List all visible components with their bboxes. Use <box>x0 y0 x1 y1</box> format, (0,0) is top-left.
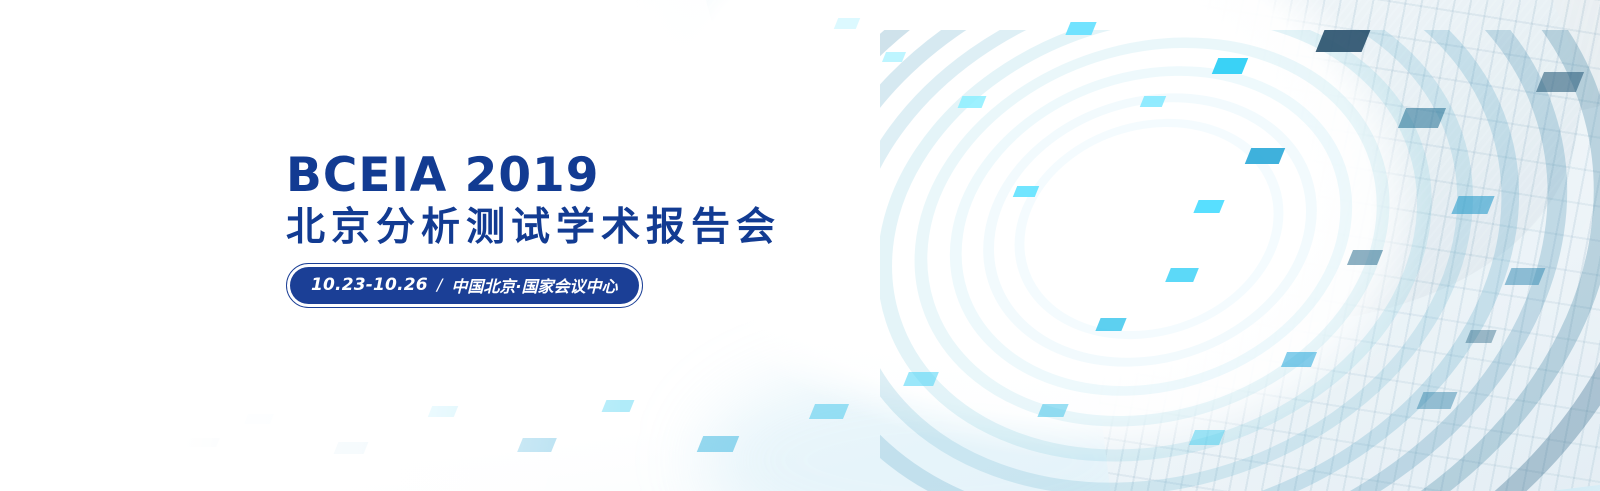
bceia-2019-banner: BCEIA 2019 北京分析测试学术报告会 10.23-10.26 / 中国北… <box>0 0 1600 491</box>
badge-separator: / <box>437 275 443 294</box>
date-venue-badge: 10.23-10.26 / 中国北京·国家会议中心 <box>286 263 643 308</box>
accent-tile <box>697 436 739 452</box>
date-venue-badge-inner: 10.23-10.26 / 中国北京·国家会议中心 <box>290 267 639 304</box>
badge-venue: 中国北京·国家会议中心 <box>451 273 617 297</box>
page-title-chinese: 北京分析测试学术报告会 <box>286 208 781 249</box>
event-title-lockup: BCEIA 2019 北京分析测试学术报告会 10.23-10.26 / 中国北… <box>286 152 781 308</box>
badge-dates: 10.23-10.26 <box>311 275 428 295</box>
page-title-english: BCEIA 2019 <box>286 152 781 199</box>
vortex-rings <box>880 30 1600 491</box>
